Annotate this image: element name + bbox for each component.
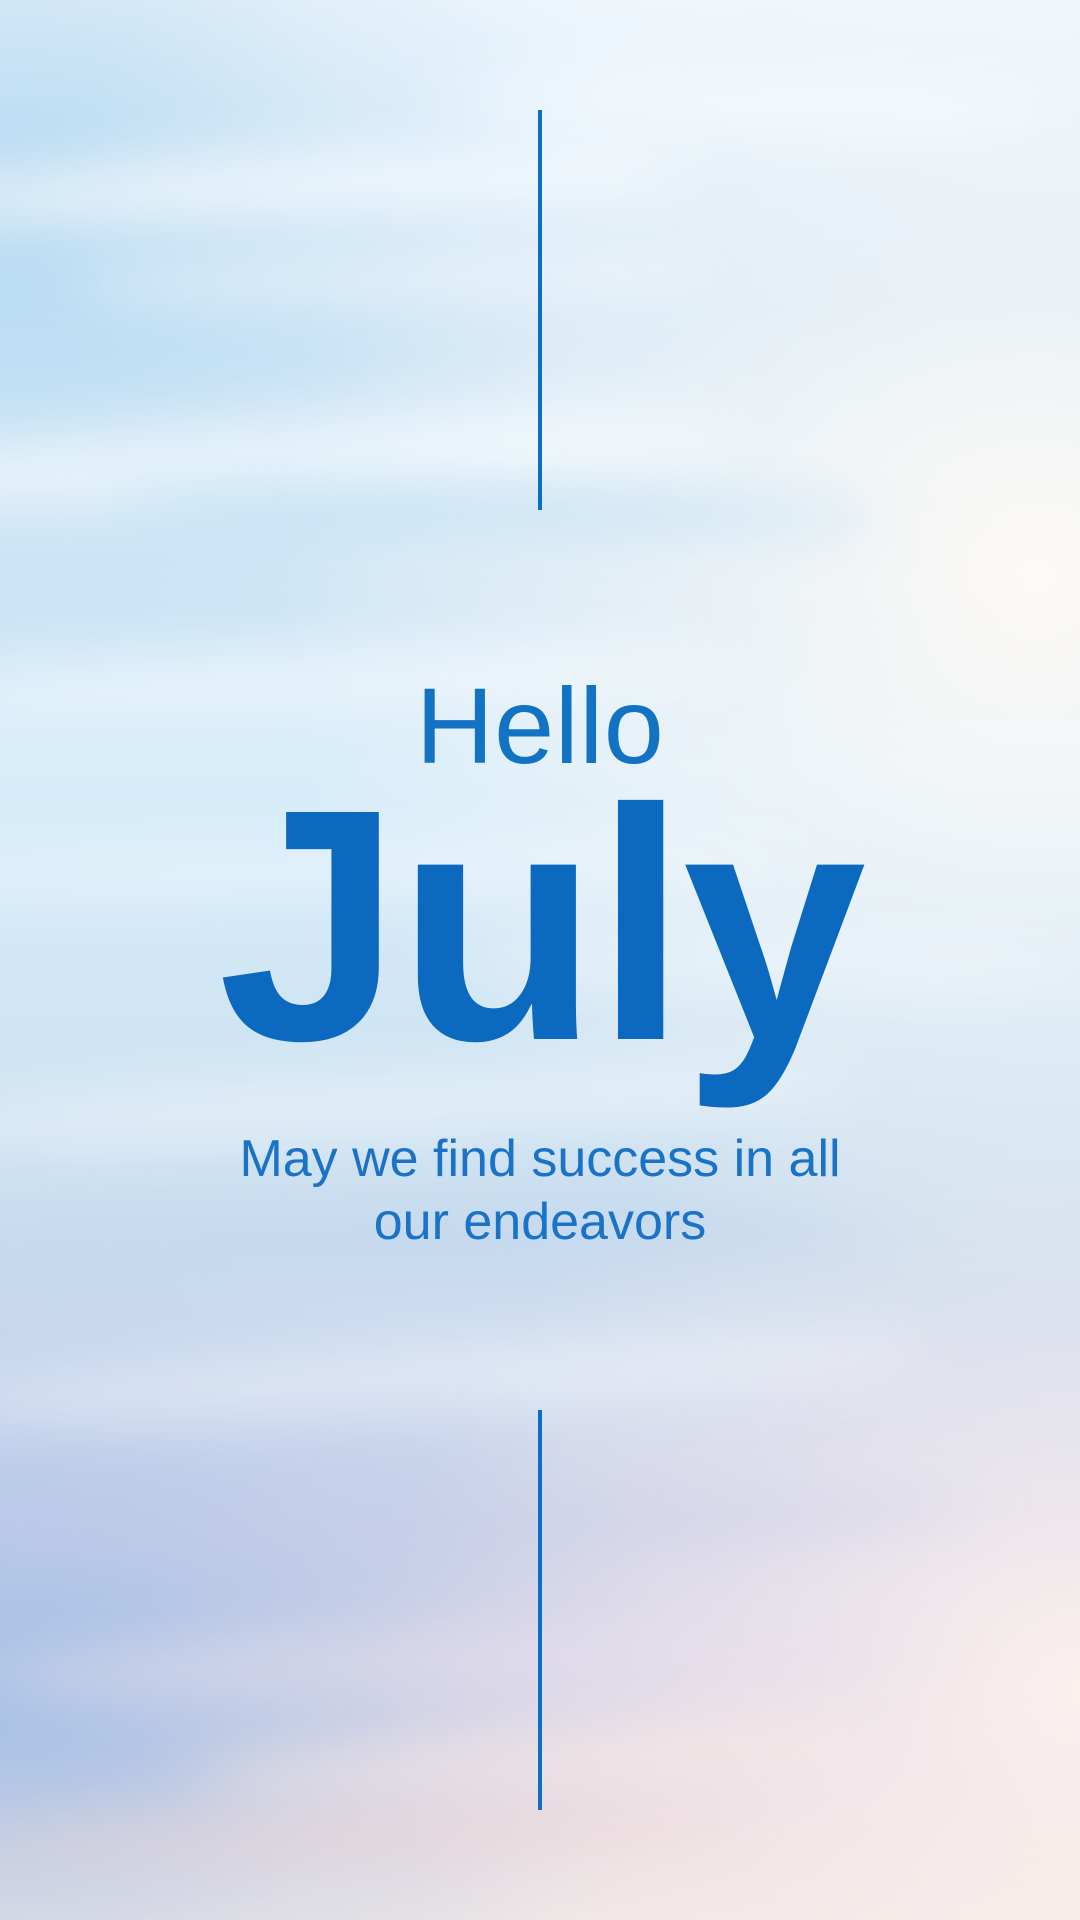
month-title: July xyxy=(0,760,1080,1090)
poster-canvas: Hello July May we find success in all ou… xyxy=(0,0,1080,1920)
top-vertical-rule xyxy=(538,110,542,510)
tagline-text: May we find success in all our endeavors xyxy=(210,1128,870,1255)
poster-content: Hello July May we find success in all ou… xyxy=(0,0,1080,1920)
bottom-vertical-rule xyxy=(538,1410,542,1810)
